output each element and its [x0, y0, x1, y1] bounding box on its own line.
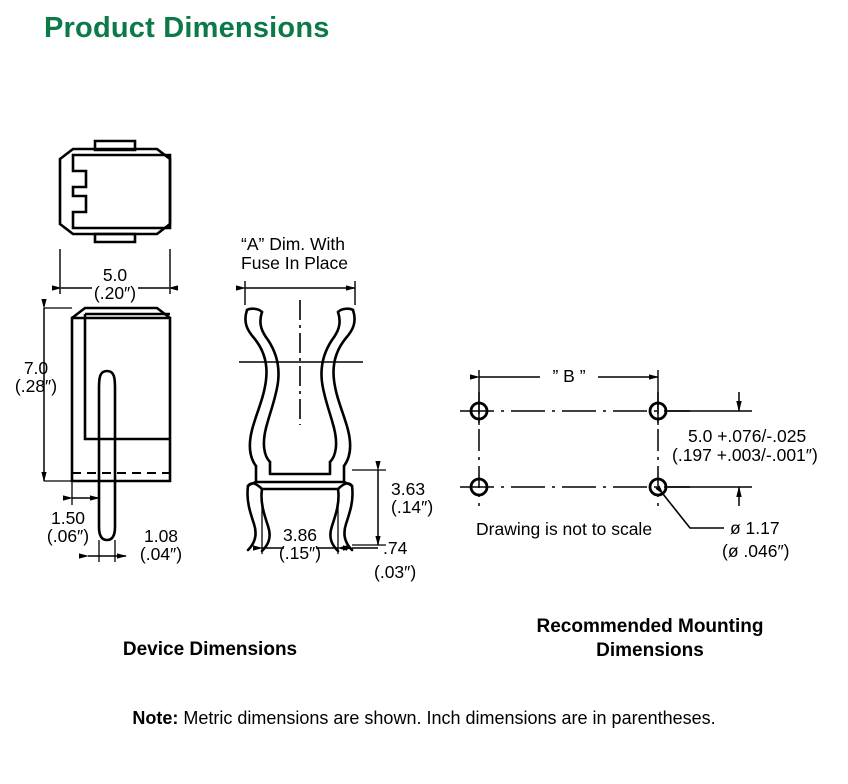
pin-offset-metric: 1.50	[51, 508, 85, 528]
top-view-outer-outline	[60, 149, 170, 234]
device-front-view	[72, 308, 170, 540]
caption-mounting-line1: Recommended Mounting	[460, 615, 840, 639]
mounting-pitch-inch: (.197 +.003/-.001″)	[672, 445, 818, 465]
clip-leg-left-inner	[261, 489, 269, 551]
device-height-dimension: 7.0 (.28″)	[15, 308, 72, 481]
hole-dia-leader-line	[663, 494, 724, 528]
clip-left-arm-tip	[247, 309, 262, 312]
pin-width-dimension: 1.08 (.04″)	[88, 526, 182, 564]
clip-inner-width-dimension: 3.86 (.15″)	[262, 500, 338, 563]
clip-body-inner-top	[270, 462, 330, 474]
device-width-metric: 5.0	[103, 265, 128, 285]
clip-leg-height-metric: 3.63	[391, 479, 425, 499]
mounting-pitch-dimension: 5.0 +.076/-.025 (.197 +.003/-.001″)	[668, 392, 818, 506]
a-dim-line2: Fuse In Place	[241, 253, 348, 273]
mounting-centerlines	[460, 392, 690, 506]
not-to-scale-note: Drawing is not to scale	[476, 519, 652, 539]
clip-centerlines	[239, 300, 363, 425]
clip-leg-left-outer	[247, 486, 255, 550]
caption-device-dimensions: Device Dimensions	[40, 638, 380, 662]
hole-diameter-inch: (ø .046″)	[722, 541, 789, 561]
clip-left-arm-inner	[260, 312, 278, 462]
pin-offset-inch: (.06″)	[47, 526, 89, 546]
device-width-dimension: 5.0 (.20″)	[60, 249, 170, 303]
top-view-inner-outline	[73, 155, 170, 228]
note-line: Note: Metric dimensions are shown. Inch …	[0, 708, 848, 729]
mounting-holes	[471, 403, 666, 495]
a-dim-line1: “A” Dim. With	[241, 234, 345, 254]
clip-a-dim-label: “A” Dim. With Fuse In Place	[241, 234, 348, 273]
top-view-bottom-tab	[95, 234, 135, 242]
device-height-metric: 7.0	[24, 358, 49, 378]
device-width-inch: (.20″)	[94, 283, 136, 303]
pin-width-metric: 1.08	[144, 526, 178, 546]
pin-width-inch: (.04″)	[140, 544, 182, 564]
caption-mounting-dimensions: Recommended Mounting Dimensions	[460, 615, 840, 663]
clip-inner-width-metric: 3.86	[283, 525, 317, 545]
clip-leg-width-inch: (.03″)	[374, 562, 416, 582]
clip-leg-width-metric: .74	[383, 538, 408, 558]
front-view-pin	[99, 371, 115, 540]
note-label: Note:	[132, 708, 178, 728]
technical-drawing-canvas: 5.0 (.20″) 7.0 (.28″) 1.50 (.06″) 1.08 (…	[0, 0, 848, 784]
clip-right-arm-inner	[321, 312, 339, 462]
caption-mounting-line2: Dimensions	[460, 639, 840, 663]
hole-diameter-metric: ø 1.17	[730, 518, 780, 538]
mounting-pattern: ” B ” 5.0 +.076/-.025 (.197 +.003/-.001″…	[460, 364, 818, 561]
clip-leg-right-outer	[344, 486, 352, 550]
device-height-inch: (.28″)	[15, 376, 57, 396]
mounting-b-label: ” B ”	[552, 366, 585, 386]
clip-inner-width-inch: (.15″)	[279, 543, 321, 563]
clip-leg-height-inch: (.14″)	[391, 497, 433, 517]
device-top-view	[60, 141, 170, 242]
note-text: Metric dimensions are shown. Inch dimens…	[178, 708, 715, 728]
mounting-b-dimension: ” B ”	[479, 364, 658, 425]
clip-leg-height-dimension: 3.63 (.14″)	[0, 0, 433, 545]
mounting-pitch-metric: 5.0 +.076/-.025	[688, 426, 806, 446]
clip-leg-right-inner	[330, 489, 338, 551]
pin-offset-dimension: 1.50 (.06″)	[47, 481, 99, 546]
front-view-body	[72, 318, 170, 481]
clip-right-arm-tip	[338, 309, 353, 312]
hole-diameter-leader: ø 1.17 (ø .046″)	[663, 494, 789, 561]
